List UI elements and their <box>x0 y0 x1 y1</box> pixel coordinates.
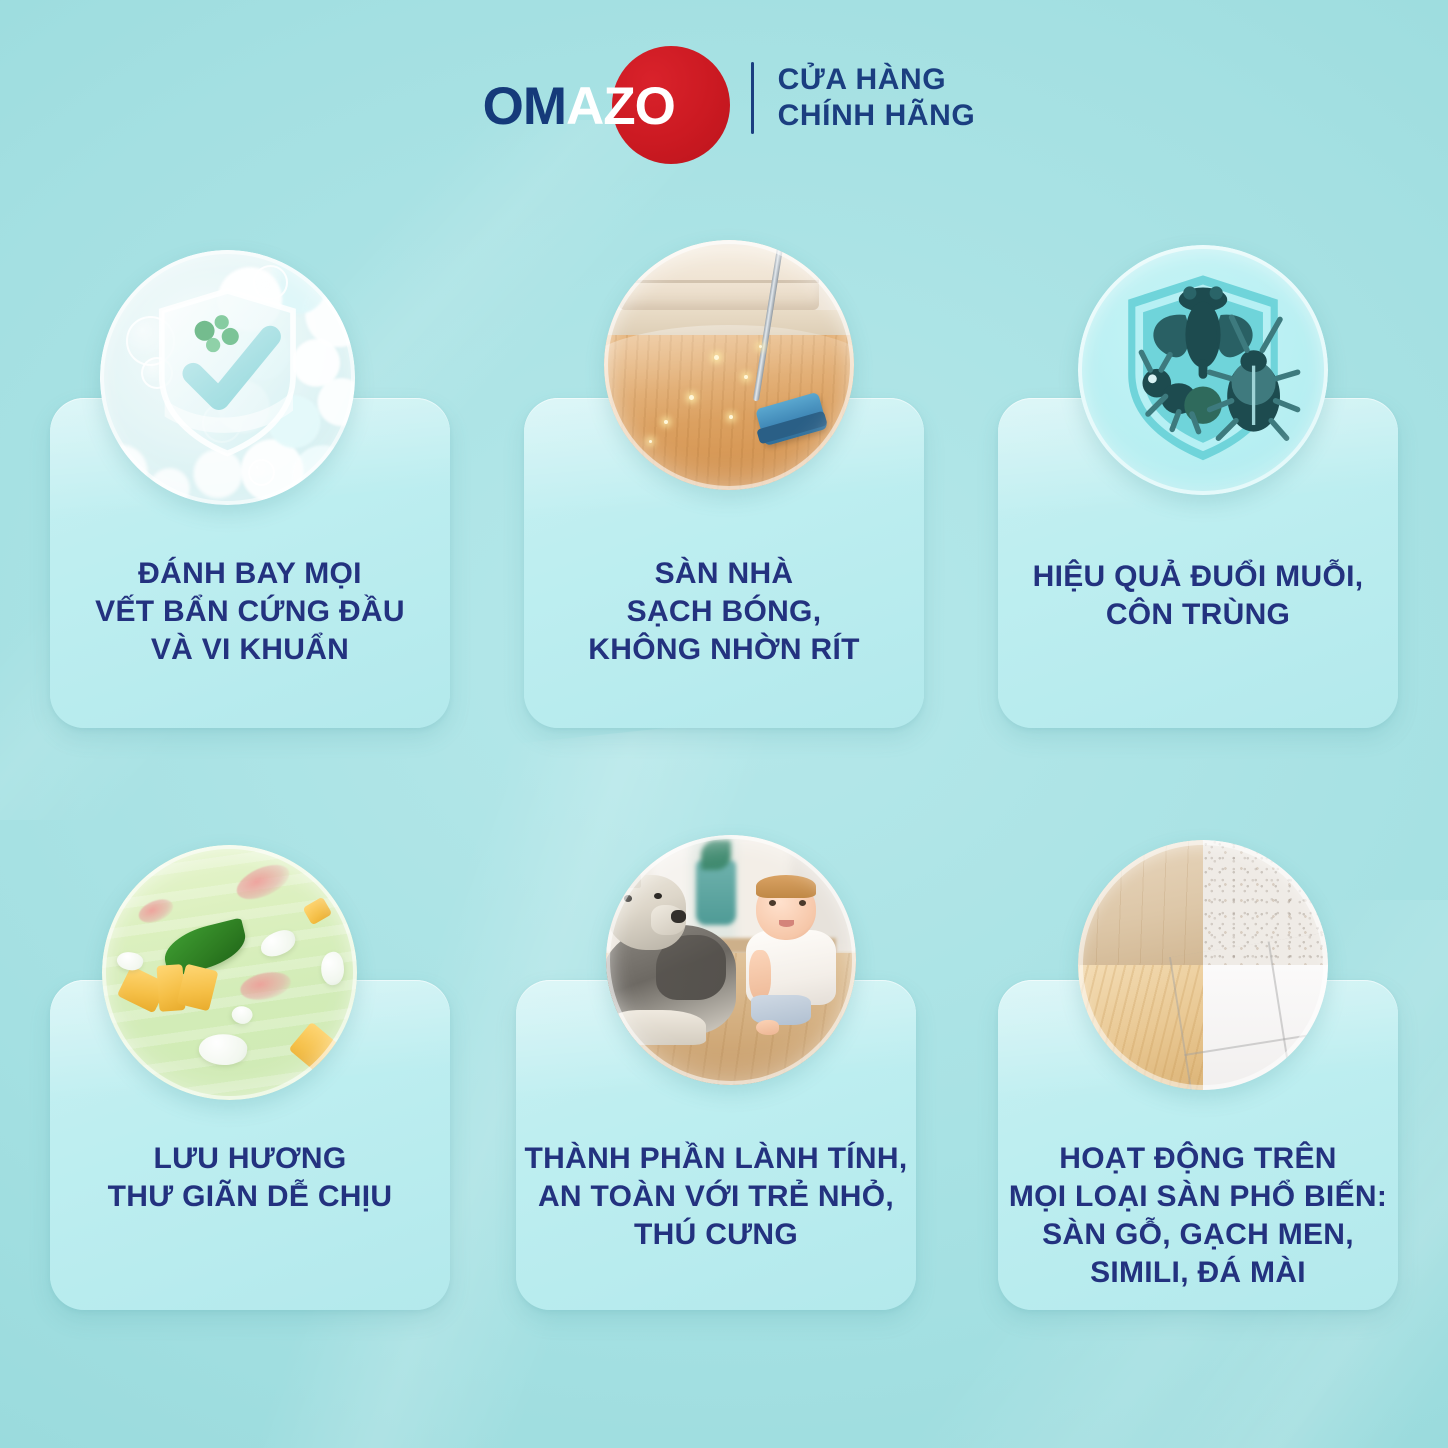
floor-types-quadrant-image <box>1078 840 1328 1090</box>
fragrance-leaf-petals-image <box>102 845 357 1100</box>
shield-check-icon <box>156 288 299 456</box>
feature-grid: ĐÁNH BAY MỌI VẾT BẨN CỨNG ĐẦU VÀ VI KHUẨ… <box>0 0 1448 1448</box>
poster-canvas: OMAZO CỬA HÀNG CHÍNH HÃNG <box>0 0 1448 1448</box>
mop-wood-floor-image <box>604 240 854 490</box>
feature-card-1-text: ĐÁNH BAY MỌI VẾT BẨN CỨNG ĐẦU VÀ VI KHUẨ… <box>50 555 450 669</box>
insect-shield-image <box>1078 245 1328 495</box>
feature-card-6-text: HOẠT ĐỘNG TRÊN MỌI LOẠI SÀN PHỔ BIẾN: SÀ… <box>998 1140 1398 1292</box>
wood-floor-quadrant <box>1078 840 1203 965</box>
insect-shield-icon <box>1093 260 1313 480</box>
baby-and-dog-image <box>606 835 856 1085</box>
feature-card-5-text: THÀNH PHẦN LÀNH TÍNH, AN TOÀN VỚI TRẺ NH… <box>516 1140 916 1254</box>
tile-quadrant <box>1203 965 1328 1090</box>
feature-card-3-text: HIỆU QUẢ ĐUỔI MUỖI, CÔN TRÙNG <box>998 558 1398 634</box>
feature-card-4-text: LƯU HƯƠNG THƯ GIÃN DỄ CHỊU <box>50 1140 450 1216</box>
feature-card-2-text: SÀN NHÀ SẠCH BÓNG, KHÔNG NHỜN RÍT <box>524 555 924 669</box>
bubbles-shield-check-image <box>100 250 355 505</box>
